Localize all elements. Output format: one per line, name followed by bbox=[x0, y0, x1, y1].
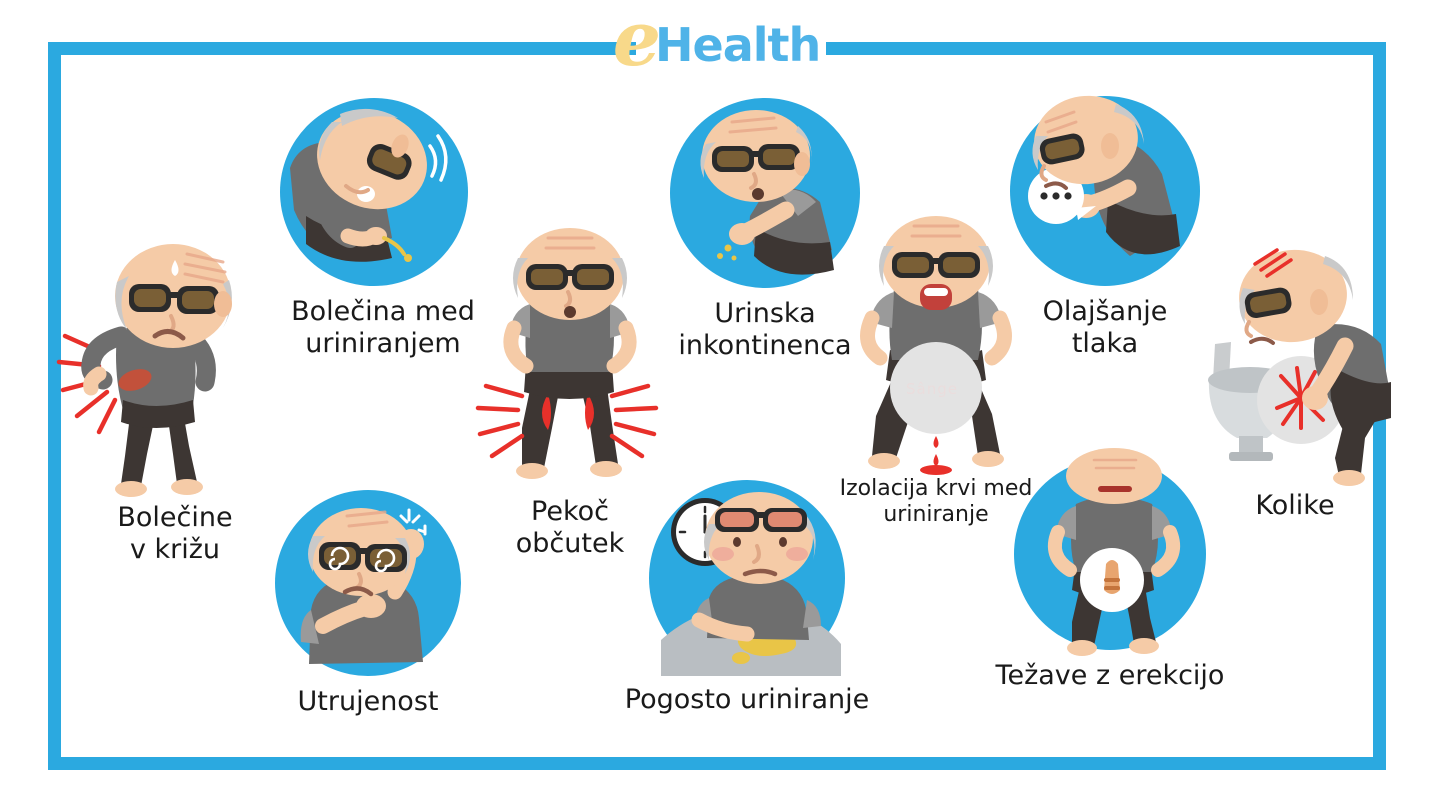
symptom-label: Utrujenost bbox=[258, 686, 478, 718]
page-title: eHealth bbox=[0, 0, 1433, 78]
symptom-label: Težave z erekcijo bbox=[990, 660, 1230, 692]
title-e-letter: e bbox=[613, 0, 655, 83]
old-man-painful-urination-icon bbox=[280, 98, 468, 286]
symptom-label: Pogosto uriniranje bbox=[618, 684, 876, 716]
old-man-clock-urination-icon bbox=[649, 480, 845, 676]
old-man-erectile-dysfunction-icon bbox=[1014, 458, 1206, 650]
title-health-word: Health bbox=[655, 18, 820, 72]
symptom-fatigue[interactable]: Utrujenost bbox=[258, 490, 478, 730]
old-man-pressure-relief-icon bbox=[1010, 96, 1200, 286]
infographic-canvas: eHealth bbox=[0, 0, 1433, 812]
old-man-dizzy-fatigue-icon bbox=[275, 490, 461, 676]
watermark-text: Sânge bbox=[906, 380, 958, 398]
symptom-frequent-urination[interactable]: Pogosto uriniranje bbox=[618, 480, 876, 720]
old-man-burning-legs-icon bbox=[460, 228, 680, 490]
old-man-toilet-colic-icon bbox=[1185, 222, 1405, 492]
symptom-erectile-dysfunction[interactable]: Težave z erekcijo bbox=[990, 458, 1230, 708]
